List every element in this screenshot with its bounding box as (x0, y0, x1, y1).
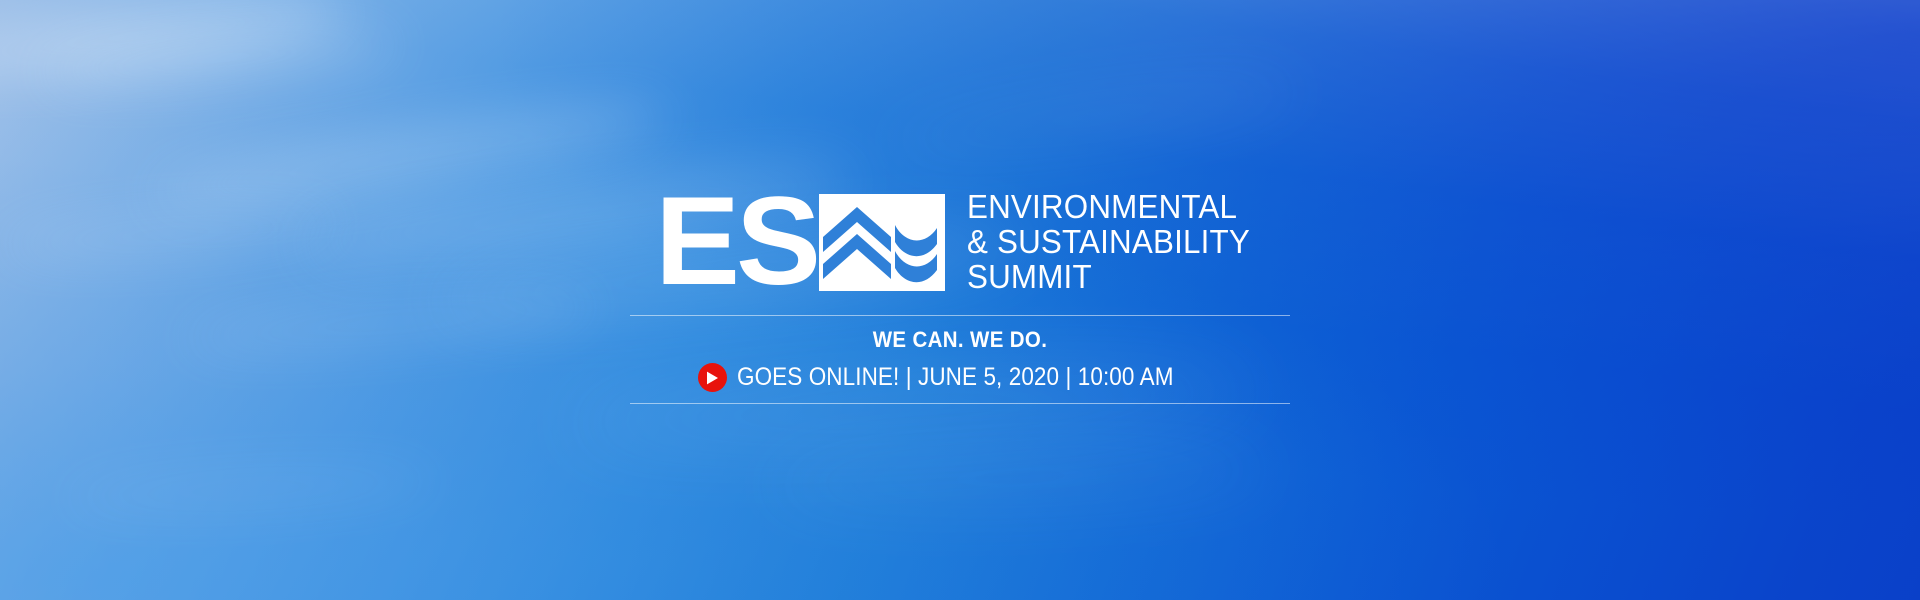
wordmark-line-2: & SUSTAINABILITY (967, 225, 1250, 260)
tagline-block: WE CAN. WE DO. GOES ONLINE! | JUNE 5, 20… (630, 315, 1290, 404)
event-datetime-text: GOES ONLINE! | JUNE 5, 2020 | 10:00 AM (737, 365, 1174, 390)
wordmark-line-1: ENVIRONMENTAL (967, 190, 1250, 225)
logo-monogram: ES (655, 193, 817, 291)
mountains-and-waves-icon (819, 194, 945, 291)
logo-lockup: ES ENVIRONMENTAL & SUSTAINABILITY SUMMIT (655, 190, 1266, 294)
play-icon[interactable] (698, 363, 727, 392)
event-banner: ES ENVIRONMENTAL & SUSTAINABILITY SUMMIT (0, 0, 1920, 600)
wordmark-line-3: SUMMIT (967, 260, 1250, 295)
banner-content: ES ENVIRONMENTAL & SUSTAINABILITY SUMMIT (0, 0, 1920, 600)
logo-wordmark: ENVIRONMENTAL & SUSTAINABILITY SUMMIT (967, 190, 1250, 294)
event-details-row: GOES ONLINE! | JUNE 5, 2020 | 10:00 AM (630, 363, 1290, 392)
slogan-text: WE CAN. WE DO. (653, 329, 1267, 351)
